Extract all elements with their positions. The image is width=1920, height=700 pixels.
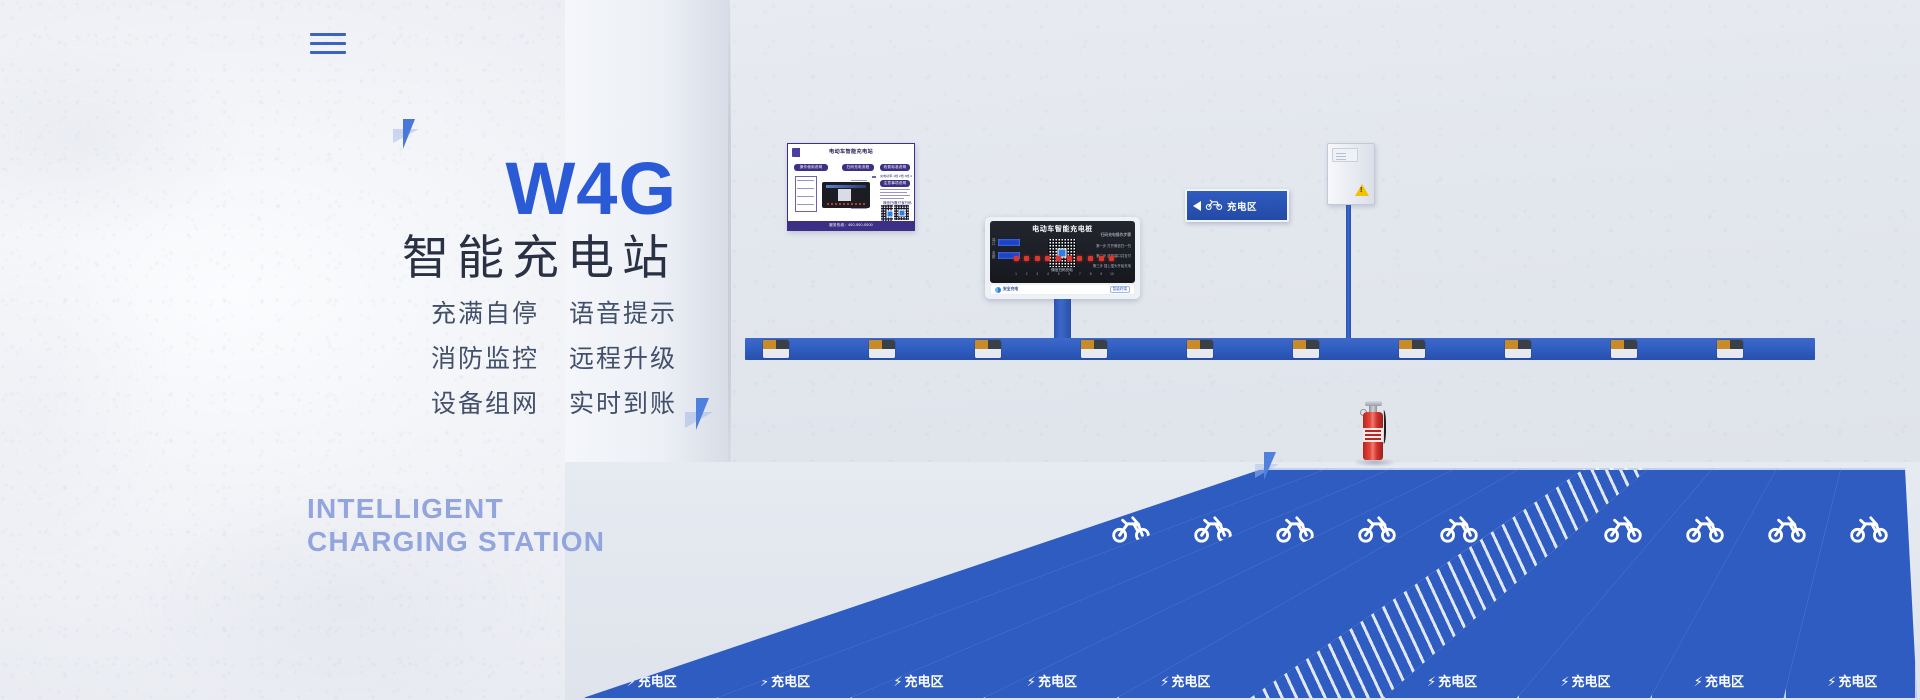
- socket-face: [1505, 349, 1531, 358]
- direction-sign[interactable]: 充电区: [1185, 189, 1289, 222]
- socket-contact-neutral: [776, 340, 789, 349]
- e-bike-icon: [1765, 516, 1809, 548]
- charging-pile-screen: 电动车智能充电桩 端口 金额 微信扫码充电 扫码充电操作步骤 第一步 打开微信扫…: [990, 221, 1135, 283]
- port-number: 1: [1015, 272, 1017, 276]
- left-arrow-icon: [1193, 201, 1201, 211]
- charging-port-4[interactable]: 4: [1044, 256, 1052, 280]
- feature-item-right: 远程升级: [569, 339, 677, 375]
- charging-port-9[interactable]: 9: [1097, 256, 1105, 280]
- socket-face: [1717, 349, 1743, 358]
- parking-bay-label-text: 充电区: [771, 675, 810, 690]
- feature-row: 消防监控远程升级: [431, 339, 677, 375]
- poster-header: 电动车智能充电站: [788, 144, 914, 160]
- feature-row: 充满自停语音提示: [431, 294, 677, 330]
- breaker-switches-icon: [1336, 152, 1346, 160]
- wall-socket-1[interactable]: [763, 340, 789, 358]
- bolt-icon: ⚡: [1560, 675, 1569, 690]
- room-back-wall-texture: [730, 0, 1920, 470]
- charging-pile-body: 电动车智能充电桩 端口 金额 微信扫码充电 扫码充电操作步骤 第一步 打开微信扫…: [985, 217, 1140, 299]
- poster-pill-2-label: 扫码充电流程: [842, 164, 874, 171]
- socket-contacts: [1081, 340, 1107, 349]
- port-led-icon: [1067, 256, 1072, 261]
- bolt-icon: ⚡: [1694, 675, 1703, 690]
- port-number: 8: [1090, 272, 1092, 276]
- poster-right-step-4: [851, 208, 867, 209]
- brand-mark-icon: [995, 287, 1001, 293]
- charging-port-2[interactable]: 2: [1023, 256, 1031, 280]
- charging-port-7[interactable]: 7: [1076, 256, 1084, 280]
- english-tagline-line2: CHARGING STATION: [307, 525, 605, 558]
- port-number: 4: [1047, 272, 1049, 276]
- parking-bay-label: ⚡充电区: [1827, 671, 1877, 690]
- port-led-icon: [1014, 256, 1019, 261]
- poster-qr-alipay[interactable]: [893, 204, 910, 221]
- poster-device-ports: [827, 203, 865, 205]
- socket-contact-live: [1293, 340, 1306, 349]
- socket-face: [1293, 349, 1319, 358]
- e-bike-icon: [1437, 516, 1481, 548]
- feature-item-right: 实时到账: [569, 384, 677, 420]
- poster-pill-1-label: 操作使用说明: [794, 164, 828, 171]
- extinguisher-label-lines: [1365, 430, 1381, 432]
- socket-face: [975, 349, 1001, 358]
- socket-contact-neutral: [1306, 340, 1319, 349]
- parking-bay-label: ⚡充电区: [1694, 671, 1744, 690]
- port-led-icon: [1077, 256, 1082, 261]
- headline-block: W4G 智能充电站: [0, 152, 677, 286]
- extinguisher-hose: [1380, 410, 1386, 444]
- socket-face: [1187, 349, 1213, 358]
- feature-row: 设备组网实时到账: [431, 384, 677, 420]
- socket-contact-live: [975, 340, 988, 349]
- parking-bay-label: ⚡充电区: [627, 671, 677, 690]
- socket-contact-live: [763, 340, 776, 349]
- charging-port-10[interactable]: 10: [1108, 256, 1116, 280]
- socket-contacts: [1505, 340, 1531, 349]
- charging-port-1[interactable]: 1: [1012, 256, 1020, 280]
- socket-contact-neutral: [1412, 340, 1425, 349]
- fire-extinguisher[interactable]: [1360, 400, 1386, 464]
- cabinet-breaker-panel: [1332, 148, 1358, 162]
- wall-socket-8[interactable]: [1505, 340, 1531, 358]
- plane-wing-2: [696, 398, 709, 430]
- poster-title: 电动车智能充电站: [788, 148, 914, 155]
- wall-poster[interactable]: 电动车智能充电站 操作使用说明 扫码充电流程 收费标准说明 注意事项说明 充电功…: [787, 143, 915, 231]
- paper-plane-decoration-1: [393, 119, 427, 159]
- bolt-icon: ⚡: [627, 675, 636, 690]
- charging-pile-tag: 智能终端: [1110, 286, 1130, 293]
- port-number: 3: [1036, 272, 1038, 276]
- socket-contact-live: [1611, 340, 1624, 349]
- poster-note-line-4: [880, 198, 904, 199]
- parking-bay-label-text: 充电区: [1171, 675, 1210, 690]
- socket-face: [1399, 349, 1425, 358]
- charging-pile-steps-title: 扫码充电操作步骤: [1101, 233, 1131, 238]
- poster-pill-3: 收费标准说明: [880, 164, 910, 171]
- socket-contact-neutral: [1200, 340, 1213, 349]
- plane-wing-2: [403, 119, 415, 149]
- charging-port-3[interactable]: 3: [1033, 256, 1041, 280]
- parking-bay-label-text: 充电区: [1038, 675, 1077, 690]
- poster-left-step-2: [797, 188, 814, 189]
- socket-contacts: [1293, 340, 1319, 349]
- feature-list: 充满自停语音提示消防监控远程升级设备组网实时到账: [0, 294, 677, 420]
- parking-bay-area: ⚡充电区⚡充电区⚡充电区⚡充电区⚡充电区⚡充电区⚡充电区⚡充电区⚡充电区: [565, 462, 1920, 700]
- poster-left-step-3: [797, 196, 814, 197]
- poster-note-line-3: [880, 195, 910, 196]
- poster-device-screen: [838, 189, 851, 201]
- parking-bay-label-text: 充电区: [1438, 675, 1477, 690]
- feature-item-left: 消防监控: [431, 339, 539, 375]
- poster-right-step-1: [851, 180, 867, 181]
- port-led-icon: [1088, 256, 1093, 261]
- parking-bay-label: ⚡充电区: [1160, 671, 1210, 690]
- socket-face: [869, 349, 895, 358]
- port-number: 7: [1079, 272, 1081, 276]
- socket-contacts: [1717, 340, 1743, 349]
- paper-plane-decoration-2: [685, 398, 719, 440]
- poster-footer: 服务热线：400-000-0000: [788, 221, 914, 230]
- bolt-icon: ⚡: [1827, 675, 1836, 690]
- socket-face: [1081, 349, 1107, 358]
- banner-stage: ⚡充电区⚡充电区⚡充电区⚡充电区⚡充电区⚡充电区⚡充电区⚡充电区⚡充电区 电动车…: [0, 0, 1920, 700]
- charging-pile-ports[interactable]: 12345678910: [1012, 256, 1116, 280]
- poster-qr-alipay-caption: 支付宝扫码: [891, 200, 915, 205]
- wall-socket-9[interactable]: [1611, 340, 1637, 358]
- electrical-cabinet[interactable]: [1327, 143, 1375, 205]
- poster-pill-1: 操作使用说明: [794, 164, 828, 171]
- socket-contact-neutral: [1094, 340, 1107, 349]
- port-led-icon: [1056, 256, 1061, 261]
- feature-item-right: 语音提示: [569, 294, 677, 330]
- port-led-icon: [1045, 256, 1050, 261]
- socket-contact-neutral: [1518, 340, 1531, 349]
- bolt-icon: ⚡: [1027, 675, 1036, 690]
- charging-pile-led-label-amount: 金额: [992, 252, 997, 260]
- wall-socket-3[interactable]: [975, 340, 1001, 358]
- socket-contacts: [763, 340, 789, 349]
- wall-socket-2[interactable]: [869, 340, 895, 358]
- parking-floor: ⚡充电区⚡充电区⚡充电区⚡充电区⚡充电区⚡充电区⚡充电区⚡充电区⚡充电区: [565, 462, 1920, 700]
- socket-contact-live: [1717, 340, 1730, 349]
- parking-bay-label-text: 充电区: [1705, 675, 1744, 690]
- charging-pile-brand-label: 安全充电: [1003, 287, 1018, 292]
- page-subtitle: 智能充电站: [0, 232, 677, 286]
- poster-flow-box-left: [795, 176, 817, 212]
- socket-contact-live: [869, 340, 882, 349]
- port-led-icon: [1035, 256, 1040, 261]
- socket-contact-live: [1081, 340, 1094, 349]
- port-number: 6: [1068, 272, 1070, 276]
- wall-socket-10[interactable]: [1717, 340, 1743, 358]
- poster-rate-text: 充电功率 1档 2档 3档 4档: [880, 173, 912, 178]
- port-led-icon: [1099, 256, 1104, 261]
- port-number: 10: [1110, 272, 1114, 276]
- menu-line-3: [310, 51, 346, 54]
- parking-bay-label-text: 充电区: [1572, 675, 1611, 690]
- e-bike-icon: [1847, 516, 1891, 548]
- socket-face: [763, 349, 789, 358]
- direction-sign-label: 充电区: [1227, 199, 1257, 213]
- charging-pile-brand: 安全充电: [995, 287, 1018, 293]
- wall-socket-6[interactable]: [1293, 340, 1319, 358]
- poster-left-step-4: [797, 204, 814, 205]
- poster-pill-4-label: 注意事项说明: [880, 180, 910, 187]
- bolt-icon: ⚡: [1160, 675, 1169, 690]
- bolt-icon: ⚡: [1427, 675, 1436, 690]
- plane-wing-2: [1264, 452, 1276, 480]
- e-bike-icon: [1601, 516, 1645, 548]
- page-title: W4G: [0, 152, 677, 226]
- poster-device-image: [822, 182, 870, 208]
- charging-pile-led-label-port: 端口: [992, 239, 997, 247]
- port-led-icon: [1109, 256, 1114, 261]
- poster-pill-4: 注意事项说明: [880, 180, 910, 187]
- menu-line-2: [310, 42, 346, 45]
- socket-contacts: [869, 340, 895, 349]
- parking-bay-label: ⚡充电区: [1560, 671, 1610, 690]
- charging-port-8[interactable]: 8: [1087, 256, 1095, 280]
- menu-line-1: [310, 33, 346, 36]
- charging-pile-led-port: [998, 239, 1020, 246]
- socket-contact-neutral: [1624, 340, 1637, 349]
- parking-bay-label-text: 充电区: [638, 675, 677, 690]
- parking-bay-label-text: 充电区: [1838, 675, 1877, 690]
- feature-item-left: 充满自停: [431, 294, 539, 330]
- socket-contact-neutral: [988, 340, 1001, 349]
- poster-flow-box-spacer: [874, 176, 876, 178]
- hamburger-menu-icon[interactable]: [310, 33, 346, 54]
- poster-note-line-2: [880, 192, 907, 193]
- feature-item-left: 设备组网: [431, 384, 539, 420]
- paper-plane-decoration-3: [1255, 452, 1285, 490]
- wall-socket-5[interactable]: [1187, 340, 1213, 358]
- poster-left-step-1: [797, 180, 814, 181]
- socket-contact-live: [1187, 340, 1200, 349]
- english-tagline: INTELLIGENT CHARGING STATION: [307, 492, 605, 558]
- high-voltage-warning-icon: [1355, 184, 1369, 196]
- socket-contact-neutral: [1730, 340, 1743, 349]
- poster-pill-2: 扫码充电流程: [842, 164, 874, 171]
- english-tagline-line1: INTELLIGENT: [307, 492, 605, 525]
- charging-pile-footer: 安全充电 智能终端: [990, 284, 1135, 295]
- e-bike-icon: [1683, 516, 1727, 548]
- e-bike-icon: [1205, 197, 1223, 215]
- socket-rail: [745, 338, 1815, 360]
- poster-pill-3-label: 收费标准说明: [880, 164, 910, 171]
- port-number: 5: [1058, 272, 1060, 276]
- parking-bay-label: ⚡充电区: [1027, 671, 1077, 690]
- socket-contacts: [975, 340, 1001, 349]
- parking-bay-label: ⚡充电区: [1427, 671, 1477, 690]
- socket-contact-neutral: [882, 340, 895, 349]
- charging-port-5[interactable]: 5: [1055, 256, 1063, 280]
- poster-note-line-1: [880, 189, 910, 190]
- wall-socket-7[interactable]: [1399, 340, 1425, 358]
- port-number: 9: [1100, 272, 1102, 276]
- charging-pile-step-1: 第一步 打开微信扫一扫: [1096, 243, 1131, 248]
- socket-contact-live: [1399, 340, 1412, 349]
- room-corner-edge: [728, 0, 731, 470]
- parking-bay-label-text: 充电区: [905, 675, 944, 690]
- socket-contacts: [1187, 340, 1213, 349]
- socket-contact-live: [1505, 340, 1518, 349]
- charging-port-6[interactable]: 6: [1065, 256, 1073, 280]
- port-led-icon: [1024, 256, 1029, 261]
- poster-flow-divider: [872, 176, 874, 178]
- wall-socket-4[interactable]: [1081, 340, 1107, 358]
- socket-contacts: [1399, 340, 1425, 349]
- port-number: 2: [1026, 272, 1028, 276]
- charging-station-illustration: ⚡充电区⚡充电区⚡充电区⚡充电区⚡充电区⚡充电区⚡充电区⚡充电区⚡充电区 电动车…: [565, 0, 1920, 700]
- socket-face: [1611, 349, 1637, 358]
- poster-device-bar: [826, 185, 866, 188]
- cabinet-power-cable: [1346, 205, 1351, 340]
- socket-contacts: [1611, 340, 1637, 349]
